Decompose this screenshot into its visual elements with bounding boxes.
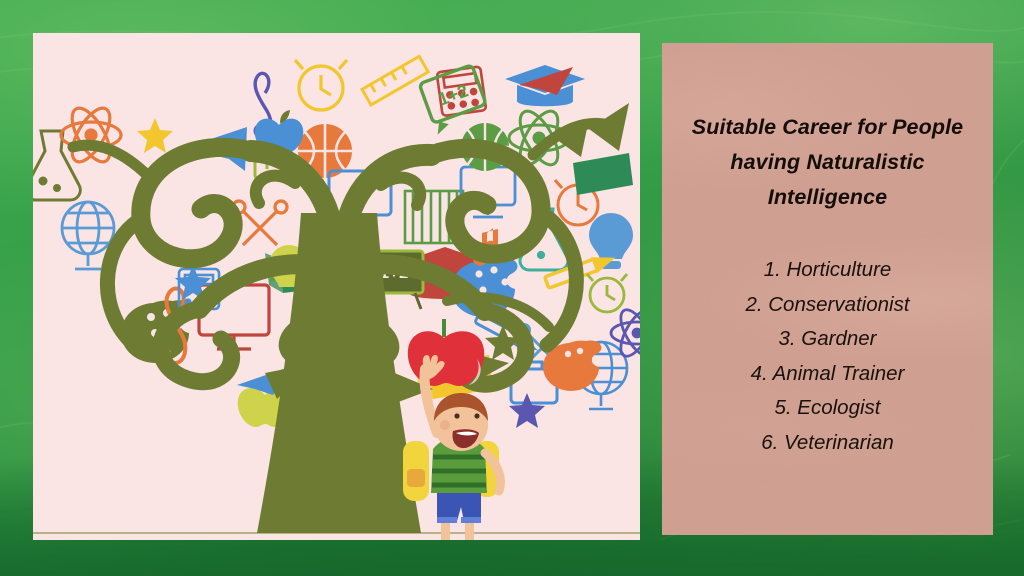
apple-body (408, 331, 484, 386)
career-list: 1. Horticulture 2. Conservationist 3. Ga… (676, 253, 979, 460)
career-list-item: 4. Animal Trainer (676, 357, 979, 392)
panel-title-line-3: Intelligence (676, 180, 979, 215)
knowledge-tree-illustration: 1+2 1+2 (33, 33, 640, 540)
illustration-card: 1+2 1+2 (33, 33, 640, 540)
career-list-item: 5. Ecologist (676, 391, 979, 426)
career-list-item: 3. Gardner (676, 322, 979, 357)
panel-title-line-2: having Naturalistic (676, 145, 979, 180)
career-list-item: 1. Horticulture (676, 253, 979, 288)
career-text-panel: Suitable Career for People having Natura… (662, 43, 993, 535)
career-list-item: 2. Conservationist (676, 288, 979, 323)
panel-title-line-1: Suitable Career for People (676, 110, 979, 145)
panel-title: Suitable Career for People having Natura… (676, 110, 979, 215)
slide: 1+2 1+2 (0, 0, 1024, 576)
career-list-item: 6. Veterinarian (676, 426, 979, 461)
